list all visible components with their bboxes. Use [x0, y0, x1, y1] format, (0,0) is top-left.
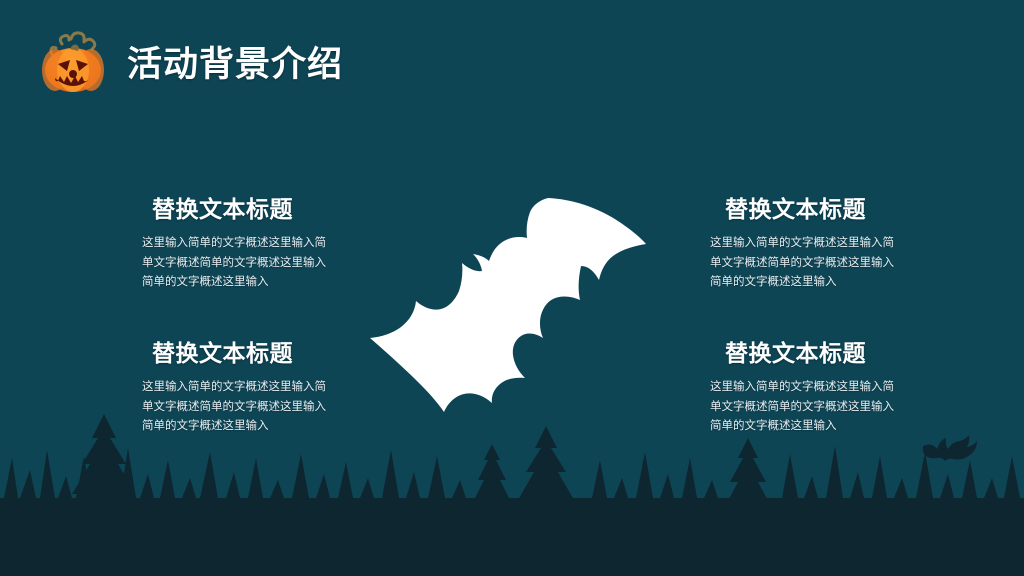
block-body: 这里输入简单的文字概述这里输入简单文字概述简单的文字概述这里输入简单的文字概述这… — [710, 234, 896, 293]
content-block-bottom-right: 替换文本标题 这里输入简单的文字概述这里输入简单文字概述简单的文字概述这里输入简… — [710, 338, 910, 437]
block-title: 替换文本标题 — [710, 194, 910, 224]
block-body: 这里输入简单的文字概述这里输入简单文字概述简单的文字概述这里输入简单的文字概述这… — [142, 378, 328, 437]
block-title: 替换文本标题 — [142, 194, 342, 224]
block-title: 替换文本标题 — [710, 338, 910, 368]
page-title: 活动背景介绍 — [127, 43, 343, 87]
bat-silhouette-icon — [365, 190, 650, 435]
block-body: 这里输入简单的文字概述这里输入简单文字概述简单的文字概述这里输入简单的文字概述这… — [710, 378, 896, 437]
pine-forest-silhouette — [0, 414, 1024, 576]
block-title: 替换文本标题 — [142, 338, 342, 368]
content-block-top-right: 替换文本标题 这里输入简单的文字概述这里输入简单文字概述简单的文字概述这里输入简… — [710, 194, 910, 293]
jack-o-lantern-icon — [40, 26, 106, 94]
small-bat-icon — [923, 435, 977, 461]
content-block-bottom-left: 替换文本标题 这里输入简单的文字概述这里输入简单文字概述简单的文字概述这里输入简… — [142, 338, 342, 437]
content-block-top-left: 替换文本标题 这里输入简单的文字概述这里输入简单文字概述简单的文字概述这里输入简… — [142, 194, 342, 293]
slide-header: 活动背景介绍 — [0, 0, 1024, 120]
block-body: 这里输入简单的文字概述这里输入简单文字概述简单的文字概述这里输入简单的文字概述这… — [142, 234, 328, 293]
presentation-slide: 活动背景介绍 替换文本标题 这里输入简单的文字概述这里输入简单文字概述简单的文字… — [0, 0, 1024, 576]
